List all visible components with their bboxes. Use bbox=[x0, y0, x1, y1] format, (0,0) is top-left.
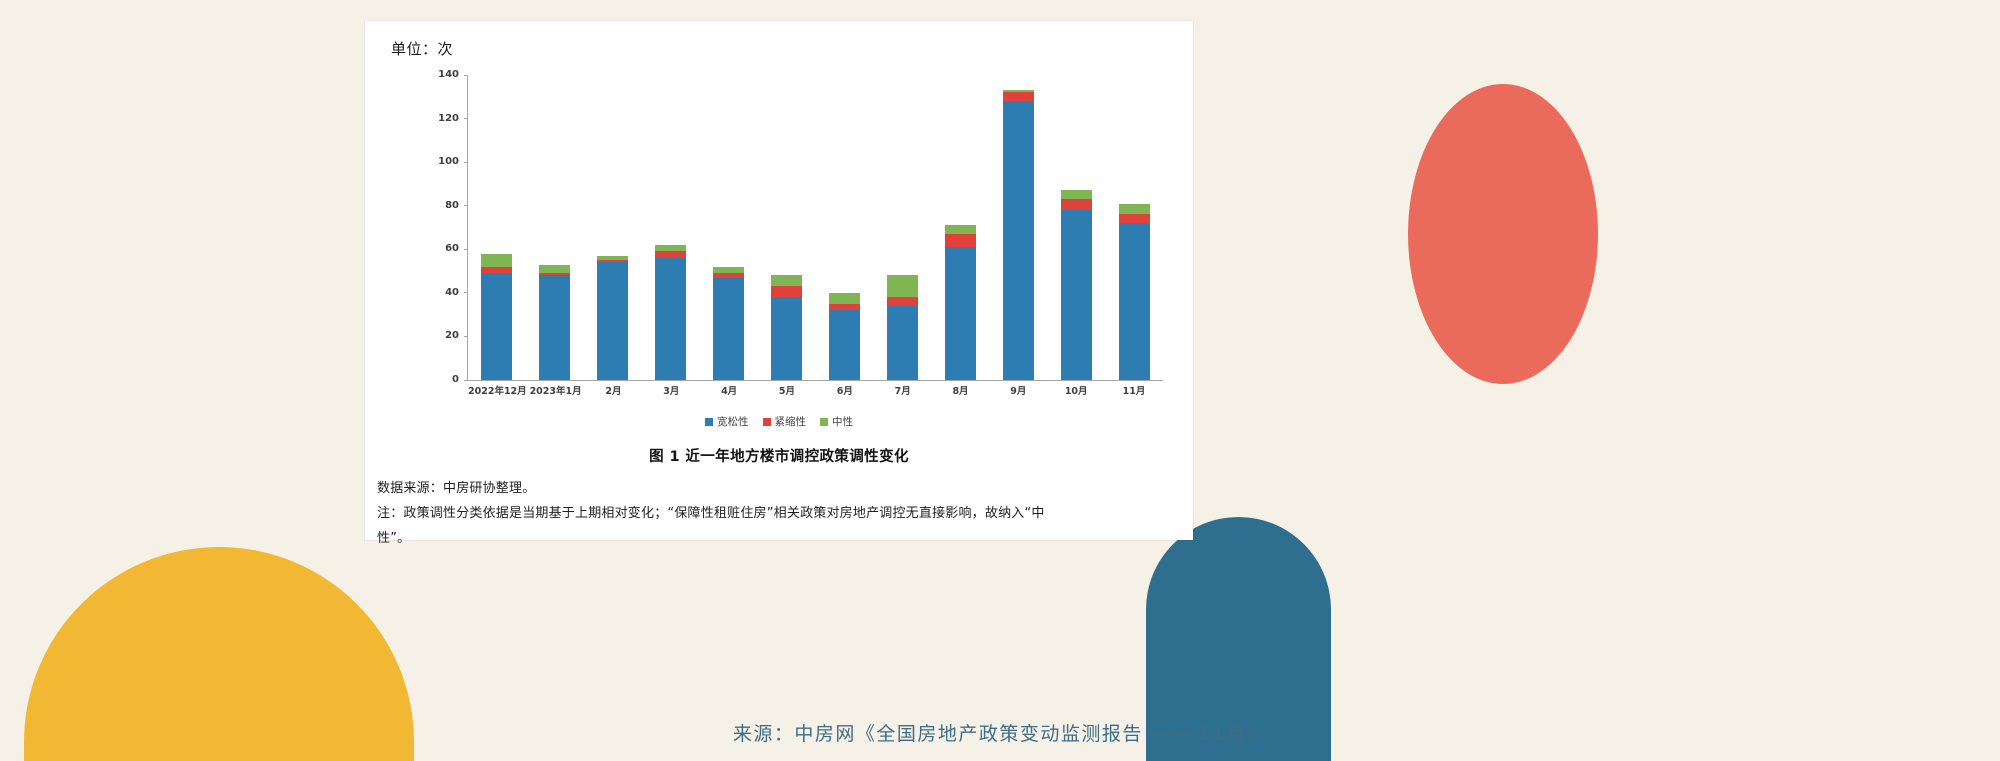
chart-bar-slot bbox=[584, 75, 642, 380]
chart-bar-stack[interactable] bbox=[539, 265, 570, 380]
x-axis-tick-label: 10月 bbox=[1047, 383, 1105, 397]
chart-bar-stack[interactable] bbox=[481, 254, 512, 380]
chart-bar-stack[interactable] bbox=[1003, 90, 1034, 380]
chart-bar-segment bbox=[829, 310, 860, 380]
y-axis-tick-label: 120 bbox=[438, 114, 464, 124]
x-axis-tick-labels: 2022年12月2023年1月2月3月4月5月6月7月8月9月10月11月 bbox=[468, 383, 1163, 397]
chart-bar-segment bbox=[1061, 190, 1092, 199]
chart-bar-slot bbox=[931, 75, 989, 380]
legend-label: 中性 bbox=[832, 414, 853, 429]
legend-swatch-icon bbox=[820, 418, 828, 426]
x-axis-tick-label: 3月 bbox=[642, 383, 700, 397]
y-axis-tick-label: 60 bbox=[445, 244, 464, 254]
chart-bar-slot bbox=[989, 75, 1047, 380]
chart-bar-slot bbox=[873, 75, 931, 380]
y-axis: 020406080100120140 bbox=[408, 75, 468, 380]
chart-bar-slot bbox=[468, 75, 526, 380]
decorative-red-ellipse bbox=[1408, 84, 1598, 384]
chart-bar-segment bbox=[887, 306, 918, 380]
x-axis-tick-label: 9月 bbox=[989, 383, 1047, 397]
chart-bars-container bbox=[468, 75, 1163, 380]
chart-bar-segment bbox=[771, 286, 802, 297]
x-axis-tick-label: 11月 bbox=[1105, 383, 1163, 397]
y-axis-tick-label: 80 bbox=[445, 201, 464, 211]
chart-bar-slot bbox=[526, 75, 584, 380]
chart-legend: 宽松性紧缩性中性 bbox=[365, 414, 1193, 429]
chart-bar-segment bbox=[1003, 92, 1034, 101]
chart-bar-segment bbox=[597, 262, 628, 380]
chart-bar-segment bbox=[945, 225, 976, 234]
chart-bar-segment bbox=[945, 234, 976, 247]
figure-note-line: 注：政策调性分类依据是当期基于上期相对变化；“保障性租赃住房”相关政策对房地产调… bbox=[377, 501, 1185, 526]
chart-bar-segment bbox=[1061, 199, 1092, 210]
chart-bar-segment bbox=[945, 247, 976, 380]
chart-bar-segment bbox=[539, 265, 570, 274]
report-figure-card: 单位：次 020406080100120140 2022年12月2023年1月2… bbox=[365, 21, 1193, 540]
chart-bar-slot bbox=[1047, 75, 1105, 380]
unit-label: 单位：次 bbox=[391, 38, 453, 59]
chart-bar-segment bbox=[1119, 204, 1150, 215]
legend-item[interactable]: 宽松性 bbox=[705, 414, 749, 429]
chart-bar-segment bbox=[539, 275, 570, 380]
chart-bar-slot bbox=[758, 75, 816, 380]
x-axis-tick-label: 2023年1月 bbox=[527, 383, 585, 397]
x-axis-tick-label: 6月 bbox=[816, 383, 874, 397]
figure-caption: 图 1 近一年地方楼市调控政策调性变化 bbox=[365, 445, 1193, 466]
chart-bar-segment bbox=[1119, 223, 1150, 380]
chart-bar-segment bbox=[481, 254, 512, 267]
chart-bar-stack[interactable] bbox=[945, 225, 976, 380]
x-axis-line bbox=[467, 380, 1163, 381]
chart-bar-stack[interactable] bbox=[771, 275, 802, 380]
chart-bar-segment bbox=[1061, 210, 1092, 380]
chart-bar-stack[interactable] bbox=[887, 275, 918, 380]
chart-bar-slot bbox=[816, 75, 874, 380]
chart-bar-segment bbox=[771, 297, 802, 380]
chart-bar-segment bbox=[887, 275, 918, 297]
y-axis-tick-label: 20 bbox=[445, 331, 464, 341]
chart-bar-stack[interactable] bbox=[1119, 204, 1150, 380]
x-axis-tick-label: 7月 bbox=[874, 383, 932, 397]
chart-bar-slot bbox=[700, 75, 758, 380]
x-axis-tick-label: 8月 bbox=[932, 383, 990, 397]
figure-notes: 数据来源：中房研协整理。注：政策调性分类依据是当期基于上期相对变化；“保障性租赃… bbox=[377, 476, 1185, 551]
figure-note-line: 数据来源：中房研协整理。 bbox=[377, 476, 1185, 501]
legend-item[interactable]: 紧缩性 bbox=[763, 414, 807, 429]
chart-bar-segment bbox=[1003, 101, 1034, 380]
chart-bar-segment bbox=[829, 293, 860, 304]
chart-bar-stack[interactable] bbox=[655, 245, 686, 380]
chart-bar-stack[interactable] bbox=[829, 293, 860, 380]
legend-item[interactable]: 中性 bbox=[820, 414, 853, 429]
chart-bar-segment bbox=[481, 273, 512, 380]
chart-bar-slot bbox=[1105, 75, 1163, 380]
chart-plot-area: 020406080100120140 bbox=[408, 75, 1163, 380]
x-axis-tick-label: 2022年12月 bbox=[468, 383, 527, 397]
figure-note-line: 性”。 bbox=[377, 526, 1185, 551]
y-axis-tick-label: 0 bbox=[452, 375, 464, 385]
x-axis-tick-label: 4月 bbox=[700, 383, 758, 397]
y-axis-tick-label: 40 bbox=[445, 288, 464, 298]
chart-bar-segment bbox=[655, 258, 686, 380]
chart-bar-stack[interactable] bbox=[597, 256, 628, 380]
chart-bar-segment bbox=[887, 297, 918, 306]
chart-bar-stack[interactable] bbox=[1061, 190, 1092, 380]
chart-bar-segment bbox=[713, 278, 744, 380]
legend-label: 宽松性 bbox=[717, 414, 749, 429]
chart-bar-stack[interactable] bbox=[713, 267, 744, 380]
legend-label: 紧缩性 bbox=[775, 414, 807, 429]
chart-bar-slot bbox=[642, 75, 700, 380]
chart-bar-segment bbox=[1119, 214, 1150, 223]
legend-swatch-icon bbox=[763, 418, 771, 426]
y-axis-tick-label: 100 bbox=[438, 157, 464, 167]
legend-swatch-icon bbox=[705, 418, 713, 426]
x-axis-tick-label: 2月 bbox=[585, 383, 643, 397]
x-axis-tick-label: 5月 bbox=[758, 383, 816, 397]
y-axis-tick-label: 140 bbox=[438, 70, 464, 80]
chart-bar-segment bbox=[771, 275, 802, 286]
source-attribution: 来源：中房网《全国房地产政策变动监测报告 —— 11月》 bbox=[0, 719, 2000, 746]
